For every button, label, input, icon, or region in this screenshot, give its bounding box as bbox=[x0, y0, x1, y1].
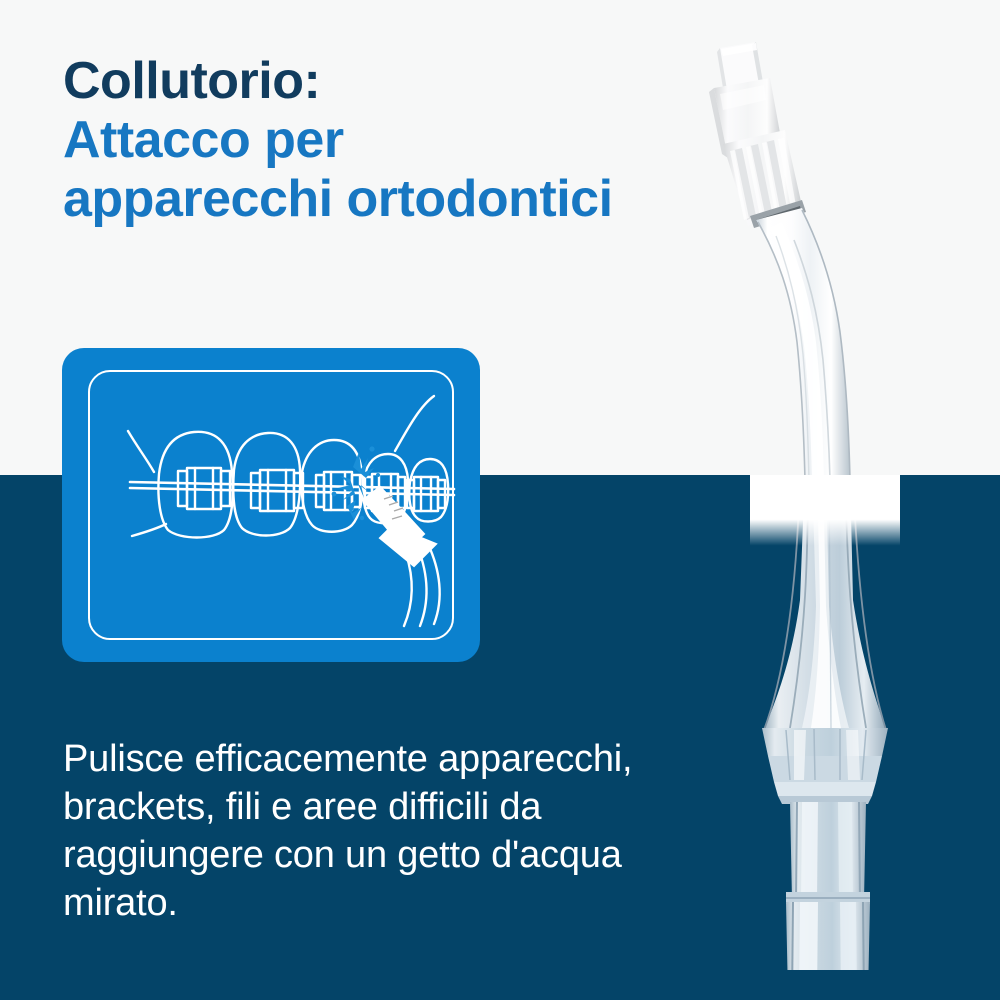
headline-line-3: apparecchi ortodontici bbox=[63, 170, 783, 229]
body-line-3: raggiungere con un getto d'acqua bbox=[63, 831, 763, 879]
headline-line-1: Collutorio: bbox=[63, 52, 783, 111]
connector-stem bbox=[786, 802, 870, 970]
base-flange bbox=[762, 728, 888, 804]
body-line-2: brackets, fili e aree difficili da bbox=[63, 783, 763, 831]
body-description: Pulisce efficacemente apparecchi, bracke… bbox=[63, 735, 763, 927]
braces-illustration-icon bbox=[62, 348, 480, 662]
water-flosser-tip-photo-icon bbox=[690, 40, 950, 970]
headline-line-2: Attacco per bbox=[63, 111, 783, 170]
page-title: Collutorio: Attacco per apparecchi ortod… bbox=[63, 52, 783, 229]
body-line-4: mirato. bbox=[63, 879, 763, 927]
shaft-upper bbox=[756, 208, 850, 480]
illustration-card bbox=[62, 348, 480, 662]
promo-canvas: Collutorio: Attacco per apparecchi ortod… bbox=[0, 0, 1000, 1000]
shaft-lower bbox=[750, 465, 900, 730]
body-line-1: Pulisce efficacemente apparecchi, bbox=[63, 735, 763, 783]
flosser-tip-illustration-icon bbox=[363, 487, 440, 626]
product-image bbox=[690, 40, 950, 970]
